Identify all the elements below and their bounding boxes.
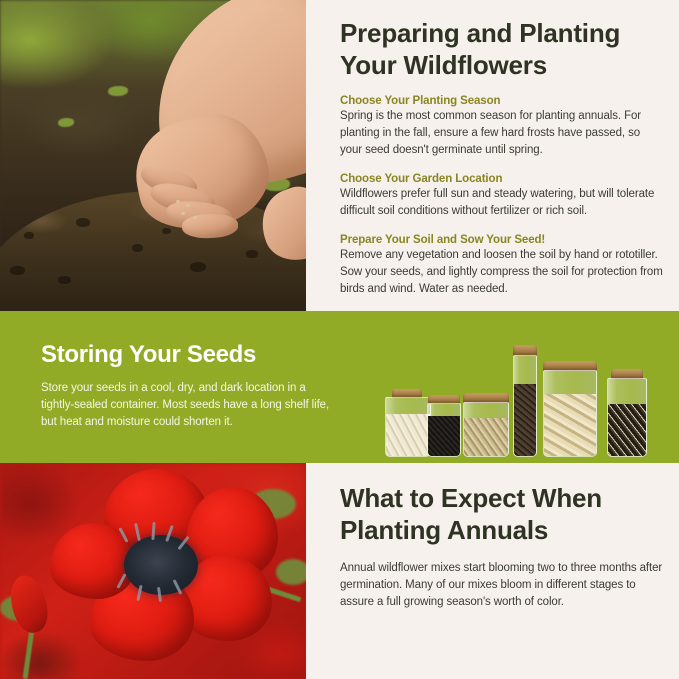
glass-body — [513, 355, 537, 457]
body-planting-season: Spring is the most common season for pla… — [340, 108, 665, 159]
poppy-center — [124, 535, 198, 595]
body-garden-location: Wildflowers prefer full sun and steady w… — [340, 186, 665, 220]
soil-clod — [190, 262, 206, 272]
infographic-page: Preparing and Planting Your Wildflowers … — [0, 0, 679, 679]
glass-body — [463, 402, 509, 457]
soil-clod — [246, 250, 258, 258]
storing-seeds-heading: Storing Your Seeds — [41, 342, 341, 368]
soil-clod — [58, 276, 71, 284]
storing-seeds-body: Store your seeds in a cool, dry, and dar… — [41, 380, 341, 431]
sprout-icon — [58, 118, 74, 127]
soil-clod — [24, 232, 34, 239]
sprout-icon — [108, 86, 128, 96]
jar-contents — [386, 414, 430, 456]
jar-contents — [544, 394, 596, 456]
glass-body — [427, 403, 461, 457]
soil-clod — [132, 244, 143, 252]
poppy-bloom — [50, 469, 278, 665]
leaf — [276, 559, 306, 585]
subhead-planting-season: Choose Your Planting Season — [340, 95, 665, 107]
jar-contents — [514, 384, 536, 456]
jar-contents — [608, 404, 646, 456]
bottom-section: What to Expect When Planting Annuals Ann… — [0, 463, 679, 679]
bottom-heading: What to Expect When Planting Annuals — [340, 483, 663, 546]
subhead-garden-location: Choose Your Garden Location — [340, 173, 665, 185]
seed — [186, 204, 190, 207]
jar-tall-dark-seeds — [513, 345, 537, 457]
bottom-body: Annual wildflower mixes start blooming t… — [340, 560, 663, 611]
glass-body — [607, 378, 647, 457]
body-prepare-soil: Remove any vegetation and loosen the soi… — [340, 247, 665, 298]
soil-clod — [76, 218, 90, 227]
jar-large-pale-seeds — [543, 361, 597, 457]
seed — [193, 216, 197, 219]
glass-body — [385, 397, 431, 457]
seed — [176, 200, 180, 203]
subhead-prepare-soil: Prepare Your Soil and Sow Your Seed! — [340, 234, 665, 246]
jar-contents — [428, 416, 460, 456]
green-text-column: Storing Your Seeds Store your seeds in a… — [41, 342, 341, 431]
top-heading: Preparing and Planting Your Wildflowers — [340, 18, 665, 81]
hands-sowing-seeds-image — [0, 0, 306, 311]
seed-jars-image — [385, 322, 670, 457]
jar-beige-grain — [463, 393, 509, 457]
soil-clod — [10, 266, 25, 275]
jar-contents — [464, 418, 508, 456]
soil-clod — [162, 228, 171, 234]
glass-body — [543, 370, 597, 457]
jar-sunflower-seeds — [607, 369, 647, 457]
seed — [181, 212, 185, 215]
jar-white-beans — [385, 389, 431, 457]
red-poppy-image — [0, 463, 306, 679]
jar-black-seeds — [427, 395, 461, 457]
bottom-text-column: What to Expect When Planting Annuals Ann… — [306, 463, 679, 679]
top-section: Preparing and Planting Your Wildflowers … — [0, 0, 679, 311]
top-text-column: Preparing and Planting Your Wildflowers … — [306, 0, 679, 311]
